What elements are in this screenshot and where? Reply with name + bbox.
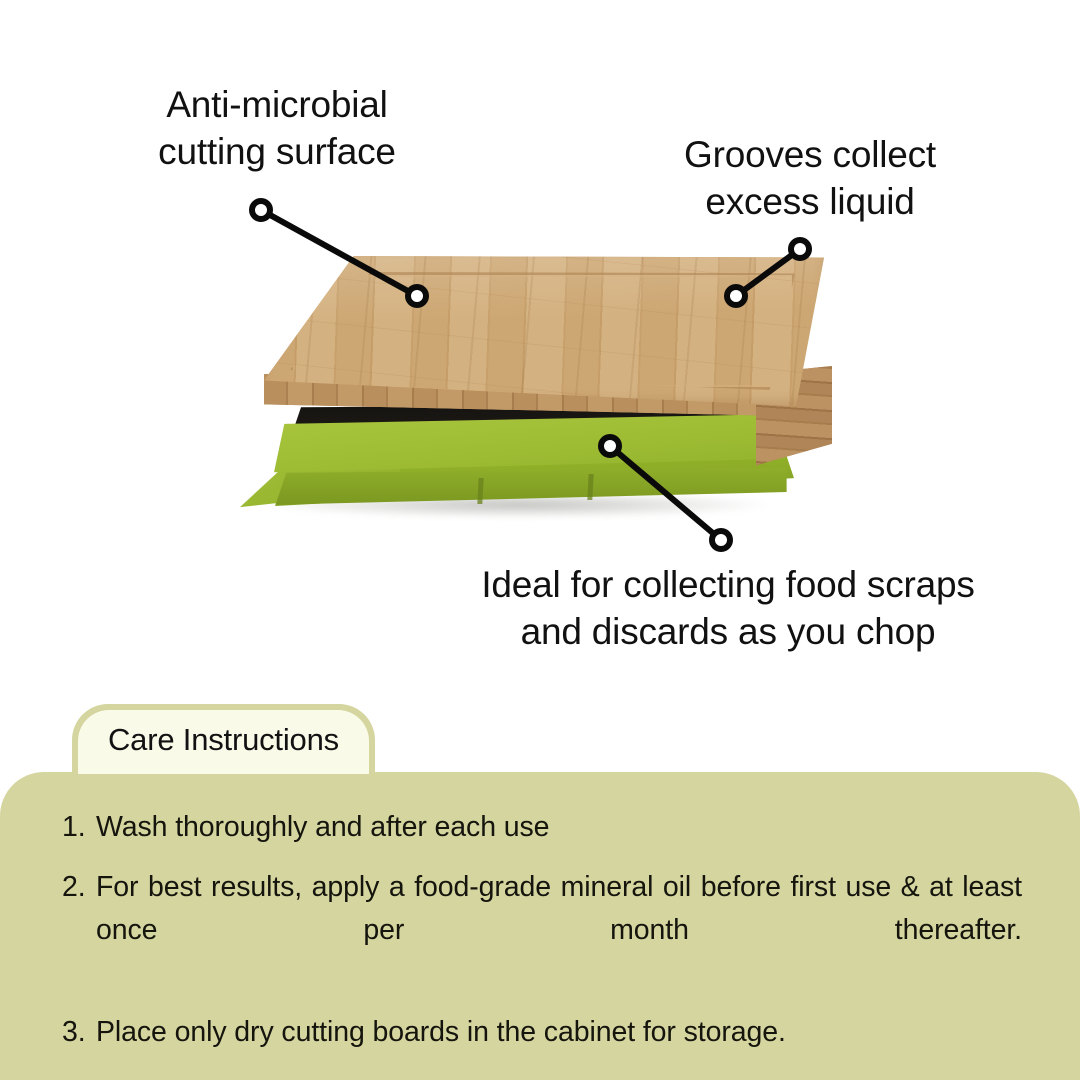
product-infographic: Anti-microbial cutting surface Grooves c… [0,0,1080,1080]
care-instructions-tab: Care Instructions [72,704,375,780]
callout-marker-food-scraps [712,531,730,549]
care-instructions-tab-inner: Care Instructions [78,710,369,774]
callout-label-food-scraps: Ideal for collecting food scraps and dis… [418,562,1038,655]
product-image [228,246,848,516]
board-juice-groove [290,272,795,390]
callout-label-anti-microbial: Anti-microbial cutting surface [92,82,462,175]
care-instruction-item: Wash thoroughly and after each use [62,806,1022,849]
care-instructions-list: Wash thoroughly and after each useFor be… [62,806,1022,1080]
care-instructions-title: Care Instructions [108,722,339,758]
care-instruction-item: Please note that Bamboo cutting boards a… [62,1071,1022,1080]
care-instruction-item: Place only dry cutting boards in the cab… [62,1011,1022,1054]
care-instruction-item: For best results, apply a food-grade min… [62,866,1022,994]
callout-marker-anti-microbial [252,201,270,219]
callout-label-grooves: Grooves collect excess liquid [636,132,984,225]
